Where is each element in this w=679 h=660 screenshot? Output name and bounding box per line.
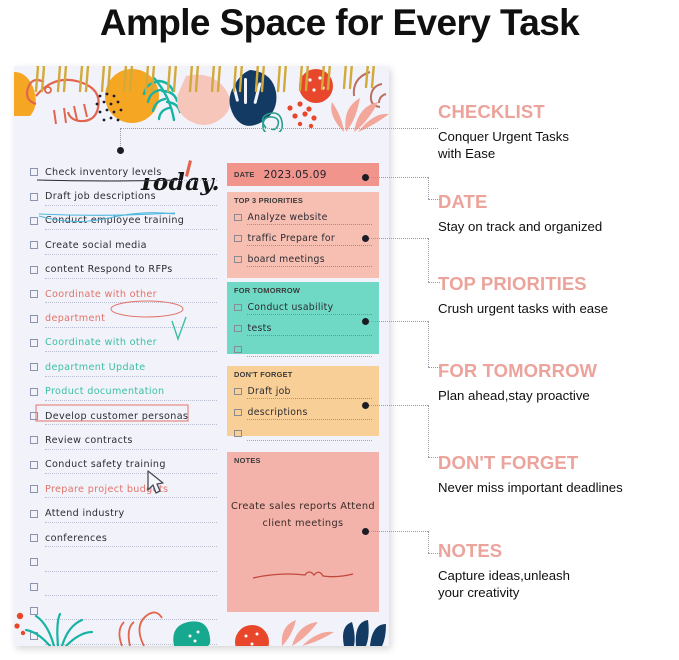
annotation-title: DON'T FORGET — [438, 452, 678, 474]
forget-checkbox[interactable] — [234, 409, 242, 417]
connector-line — [366, 531, 428, 532]
panel-header: TOP 3 PRIORITIES — [227, 192, 379, 207]
rule-line — [45, 473, 217, 474]
annotation-title: NOTES — [438, 540, 678, 562]
checklist-row[interactable]: Review contracts — [30, 428, 215, 452]
notepad: Today. Check inventory levels Draft job … — [14, 66, 389, 646]
for-tomorrow-panel: FOR TOMORROW Conduct usability tests — [227, 282, 379, 354]
checklist-row[interactable]: Check inventory levels — [30, 160, 215, 184]
spiral-binding-icon — [14, 66, 389, 100]
panel-header: NOTES — [227, 452, 379, 467]
forget-row[interactable] — [227, 423, 379, 444]
rule-line — [247, 419, 372, 420]
rule-line — [247, 266, 372, 267]
checklist-row[interactable]: Develop customer personas — [30, 404, 215, 428]
connector-line — [428, 553, 440, 554]
connector-line — [366, 321, 428, 322]
rule-line — [45, 302, 217, 303]
tropical-pattern-bottom-icon — [14, 602, 389, 646]
forget-row[interactable]: descriptions — [227, 402, 379, 423]
checklist-label: Attend industry — [45, 508, 127, 519]
priority-label: traffic Prepare for — [248, 233, 336, 244]
annotation-top-priorities: TOP PRIORITIES Crush urgent tasks with e… — [438, 273, 678, 317]
rule-line — [45, 327, 217, 328]
connector-line — [366, 177, 428, 178]
rule-line — [247, 314, 372, 315]
checklist-label: content Respond to RFPs — [45, 264, 175, 275]
rule-line — [247, 335, 372, 336]
checklist-label: department — [45, 313, 107, 324]
rule-line — [45, 424, 217, 425]
checklist-checkbox[interactable] — [30, 534, 38, 542]
priority-row[interactable]: traffic Prepare for — [227, 228, 379, 249]
forget-checkbox[interactable] — [234, 388, 242, 396]
rule-line — [45, 571, 217, 572]
checklist-row[interactable]: conferences — [30, 526, 215, 550]
top-priorities-panel: TOP 3 PRIORITIES Analyze website traffic… — [227, 192, 379, 278]
checklist-row[interactable] — [30, 550, 215, 574]
rule-line — [45, 254, 217, 255]
rule-line — [45, 376, 217, 377]
priority-label: board meetings — [248, 254, 325, 265]
rule-line — [45, 205, 217, 206]
tomorrow-row[interactable] — [227, 339, 379, 360]
checklist-row[interactable]: Conduct safety training — [30, 453, 215, 477]
mouse-cursor-icon — [146, 470, 166, 496]
tomorrow-checkbox[interactable] — [234, 304, 242, 312]
annotation-desc: Capture ideas,unleash your creativity — [438, 567, 678, 601]
connector-line — [428, 457, 440, 458]
checklist-checkbox[interactable] — [30, 558, 38, 566]
footer-decoration — [14, 602, 389, 646]
poster-canvas: Ample Space for Every Task — [0, 0, 679, 660]
checklist-checkbox[interactable] — [30, 412, 38, 420]
checklist-label: Coordinate with other — [45, 337, 159, 348]
tomorrow-checkbox[interactable] — [234, 346, 242, 354]
panel-header: DON'T FORGET — [227, 366, 379, 381]
annotation-desc: Crush urgent tasks with ease — [438, 300, 678, 317]
notes-panel: NOTES Create sales reports Attend client… — [227, 452, 379, 612]
checklist-checkbox[interactable] — [30, 583, 38, 591]
connector-line — [366, 405, 428, 406]
rule-line — [45, 449, 217, 450]
connector-dot-top-priorities — [362, 235, 369, 242]
annotation-date: DATE Stay on track and organized — [438, 191, 678, 235]
checklist-checkbox[interactable] — [30, 168, 38, 176]
forget-label: descriptions — [248, 407, 308, 418]
date-panel: DATE 2023.05.09 — [227, 163, 379, 186]
connector-line — [428, 199, 440, 200]
panel-header: FOR TOMORROW — [227, 282, 379, 297]
annotation-checklist: CHECKLIST Conquer Urgent Tasks with Ease — [438, 101, 678, 162]
checklist-row[interactable]: Create social media — [30, 233, 215, 257]
checklist-row[interactable] — [30, 575, 215, 599]
checklist-label: Conduct employee training — [45, 215, 186, 226]
priority-row[interactable]: board meetings — [227, 249, 379, 270]
checklist-checkbox[interactable] — [30, 315, 38, 323]
checklist-checkbox[interactable] — [30, 339, 38, 347]
checklist-row[interactable]: Coordinate with other — [30, 331, 215, 355]
annotation-desc: Stay on track and organized — [438, 218, 678, 235]
checklist-checkbox[interactable] — [30, 193, 38, 201]
checklist-row[interactable]: Coordinate with other — [30, 282, 215, 306]
connector-line — [428, 367, 440, 368]
checklist-row[interactable]: content Respond to RFPs — [30, 258, 215, 282]
checklist-label: Coordinate with other — [45, 289, 159, 300]
underline-squiggle-icon — [251, 570, 355, 584]
checklist-label: department Update — [45, 362, 148, 373]
checklist-row[interactable]: Product documentation — [30, 380, 215, 404]
annotation-for-tomorrow: FOR TOMORROW Plan ahead,stay proactive — [438, 360, 678, 404]
tomorrow-label: tests — [248, 323, 272, 334]
checklist-label: Create social media — [45, 240, 149, 251]
annotation-title: FOR TOMORROW — [438, 360, 678, 382]
tomorrow-row[interactable]: tests — [227, 318, 379, 339]
checklist-label: Develop customer personas — [45, 411, 190, 422]
checklist-checkbox[interactable] — [30, 388, 38, 396]
rule-line — [45, 497, 217, 498]
tomorrow-label: Conduct usability — [248, 302, 334, 313]
rule-line — [247, 356, 372, 357]
checklist-checkbox[interactable] — [30, 461, 38, 469]
checklist-label: Draft job descriptions — [45, 191, 158, 202]
rule-line — [247, 440, 372, 441]
rule-line — [45, 522, 217, 523]
connector-line — [428, 238, 429, 282]
checklist-row[interactable]: department Update — [30, 355, 215, 379]
checklist-checkbox[interactable] — [30, 510, 38, 518]
annotation-dont-forget: DON'T FORGET Never miss important deadli… — [438, 452, 678, 496]
tomorrow-row[interactable]: Conduct usability — [227, 297, 379, 318]
date-label: DATE — [227, 170, 255, 179]
rule-line — [247, 224, 372, 225]
checklist-label: conferences — [45, 533, 109, 544]
checklist-checkbox[interactable] — [30, 241, 38, 249]
checklist-row[interactable]: Draft job descriptions — [30, 184, 215, 208]
rule-line — [45, 400, 217, 401]
priority-label: Analyze website — [248, 212, 328, 223]
rule-line — [45, 351, 217, 352]
rule-line — [45, 180, 217, 181]
forget-checkbox[interactable] — [234, 430, 242, 438]
annotation-title: CHECKLIST — [438, 101, 678, 123]
connector-line — [428, 282, 440, 283]
connector-dot-notes — [362, 528, 369, 535]
page-title: Ample Space for Every Task — [0, 2, 679, 44]
connector-line — [120, 128, 438, 129]
connector-dot-dont-forget — [362, 402, 369, 409]
priority-row[interactable]: Analyze website — [227, 207, 379, 228]
rule-line — [45, 278, 217, 279]
forget-label: Draft job — [248, 386, 291, 397]
date-value[interactable]: 2023.05.09 — [255, 169, 327, 181]
checklist-row[interactable]: Attend industry — [30, 501, 215, 525]
checklist-label: Review contracts — [45, 435, 135, 446]
checklist-row[interactable]: Prepare project budgets — [30, 477, 215, 501]
connector-line — [428, 405, 429, 457]
checklist-checkbox[interactable] — [30, 363, 38, 371]
annotation-notes: NOTES Capture ideas,unleash your creativ… — [438, 540, 678, 601]
rule-line — [45, 546, 217, 547]
forget-row[interactable]: Draft job — [227, 381, 379, 402]
connector-dot-for-tomorrow — [362, 318, 369, 325]
checklist: Check inventory levels Draft job descrip… — [30, 160, 215, 646]
checklist-row[interactable]: Conduct employee training — [30, 209, 215, 233]
annotation-desc: Conquer Urgent Tasks with Ease — [438, 128, 678, 162]
dont-forget-panel: DON'T FORGET Draft job descriptions — [227, 366, 379, 436]
notes-body[interactable]: Create sales reports Attend client meeti… — [227, 498, 379, 532]
checklist-label: Product documentation — [45, 386, 167, 397]
connector-dot-checklist — [117, 147, 124, 154]
rule-line — [247, 245, 372, 246]
annotation-title: DATE — [438, 191, 678, 213]
rule-line — [247, 398, 372, 399]
checklist-checkbox[interactable] — [30, 217, 38, 225]
priority-checkbox[interactable] — [234, 214, 242, 222]
annotation-title: TOP PRIORITIES — [438, 273, 678, 295]
checklist-checkbox[interactable] — [30, 266, 38, 274]
priority-checkbox[interactable] — [234, 235, 242, 243]
connector-line — [428, 531, 429, 553]
rule-line — [45, 595, 217, 596]
connector-line — [428, 321, 429, 367]
connector-line — [428, 177, 429, 199]
checklist-checkbox[interactable] — [30, 290, 38, 298]
checklist-label: Conduct safety training — [45, 459, 168, 470]
connector-line — [366, 238, 428, 239]
connector-dot-date — [362, 174, 369, 181]
priority-checkbox[interactable] — [234, 256, 242, 264]
annotation-desc: Plan ahead,stay proactive — [438, 387, 678, 404]
rule-line — [45, 229, 217, 230]
checklist-row[interactable]: department — [30, 306, 215, 330]
checklist-label: Check inventory levels — [45, 167, 164, 178]
tomorrow-checkbox[interactable] — [234, 325, 242, 333]
checklist-checkbox[interactable] — [30, 436, 38, 444]
checklist-checkbox[interactable] — [30, 485, 38, 493]
annotation-desc: Never miss important deadlines — [438, 479, 678, 496]
